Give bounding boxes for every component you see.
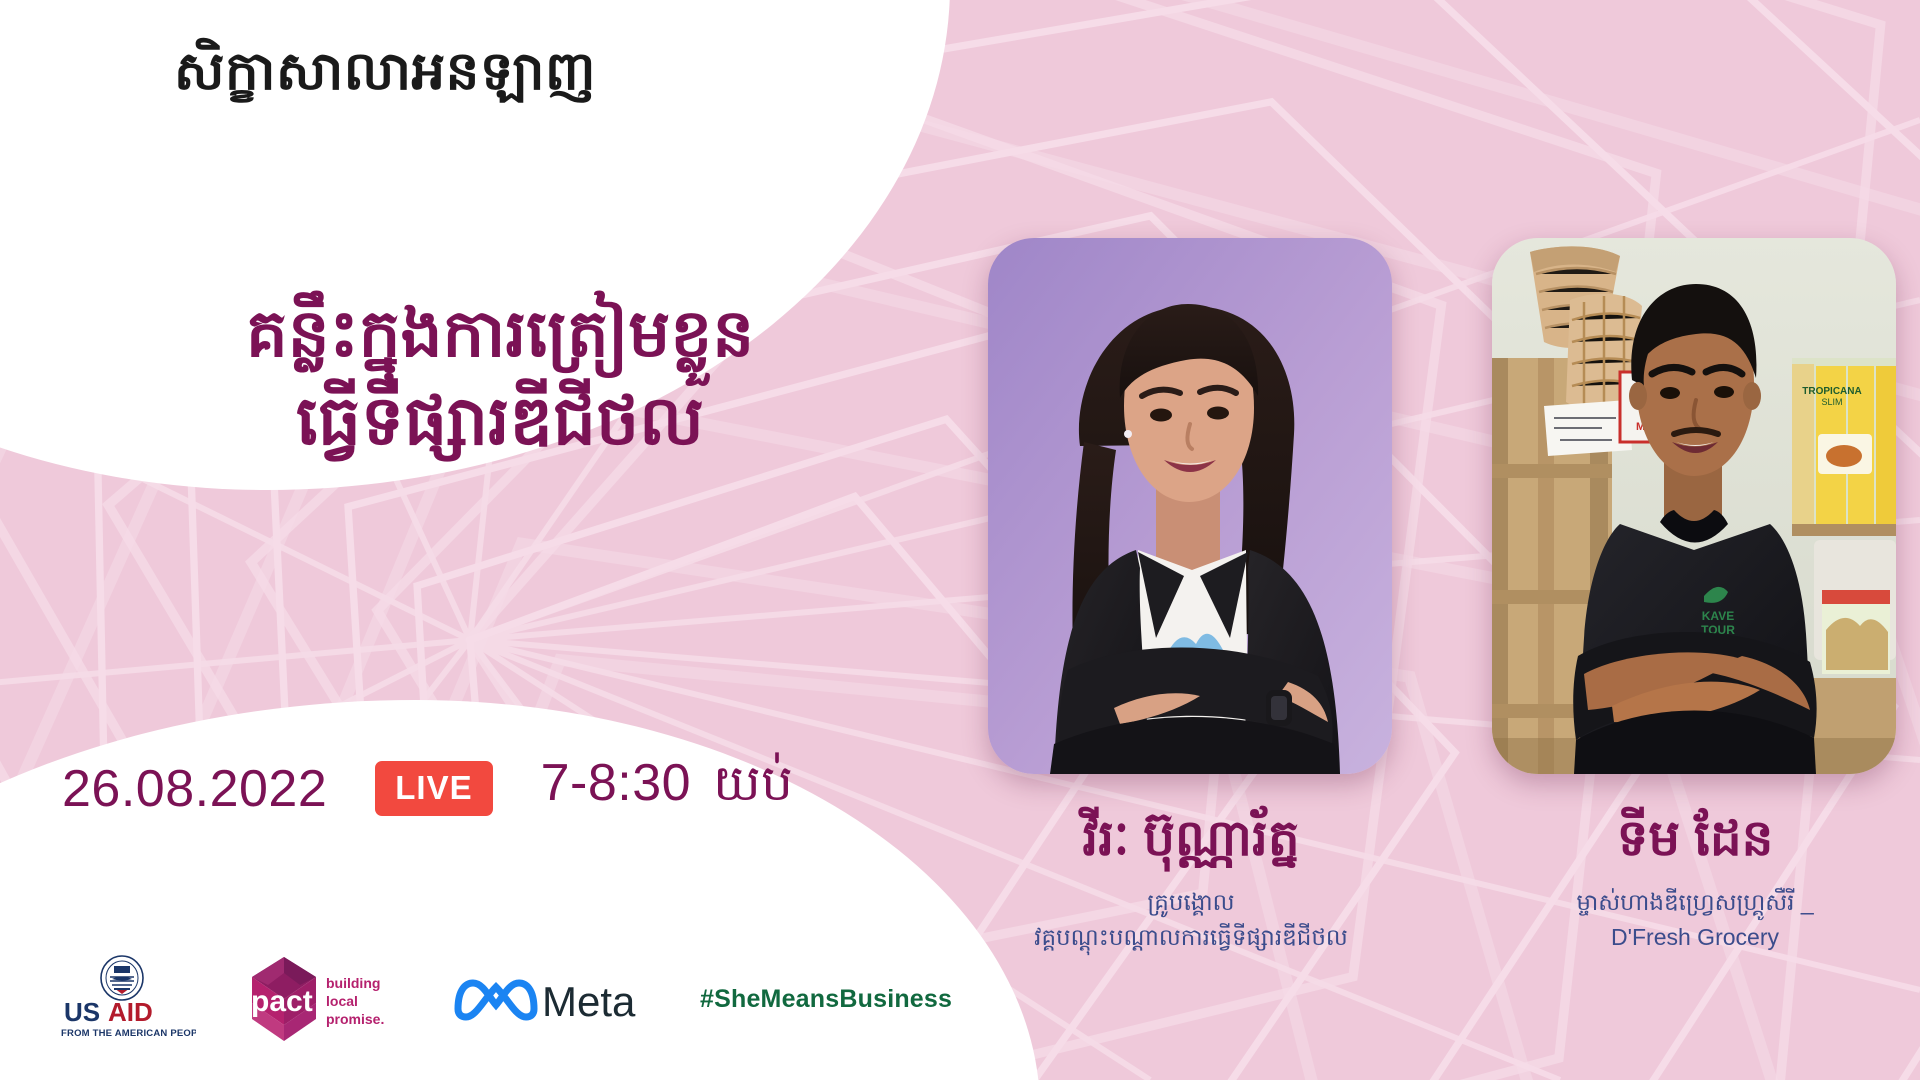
pact-wordmark: pact [251, 985, 313, 1018]
speaker-2-info: ទីម ដែន ម្ចាស់ហាងឌីហ្រ្វេសហ្គ្រូសឺរី _ D… [1452, 808, 1920, 954]
main-title-line-2: ធ្វើទីផ្សារឌីជីថល [60, 377, 940, 467]
usaid-tagline: FROM THE AMERICAN PEOPLE [61, 1028, 196, 1039]
meta-wordmark: Meta [542, 978, 636, 1025]
event-time-suffix: យប់ [713, 752, 793, 825]
speaker-1-role-line-1: គ្រូបង្គោល [948, 885, 1434, 920]
speaker-1-role: គ្រូបង្គោល វគ្គបណ្ដុះបណ្ដាលការធ្វើទីផ្សា… [948, 885, 1434, 954]
pact-tagline-1: building [326, 975, 380, 991]
event-time-range: 7-8:30 [541, 753, 691, 813]
speaker-2-name: ទីម ដែន [1452, 808, 1920, 869]
pact-tagline-2: local [326, 993, 358, 1009]
svg-text:KAVE: KAVE [1702, 609, 1734, 623]
svg-text:SLIM: SLIM [1821, 397, 1842, 407]
live-badge: LIVE [375, 761, 492, 816]
usaid-logo: US AID FROM THE AMERICAN PEOPLE [48, 955, 196, 1043]
meta-logo: Meta [450, 971, 642, 1027]
speaker-2-photo: MISOTA TROPICANA SLIM [1492, 238, 1896, 774]
event-date: 26.08.2022 [62, 759, 327, 819]
usaid-wordmark-aid: AID [108, 997, 153, 1027]
usaid-wordmark-us: US [64, 997, 100, 1027]
usaid-seal-icon [101, 956, 143, 1000]
speaker-1-info: វីរៈ ប៊ុណ្ណារ័ត្ន គ្រូបង្គោល វគ្គបណ្ដុះប… [948, 808, 1434, 954]
event-time: 7-8:30 យប់ [541, 752, 794, 825]
main-title: គន្លឹះក្នុងការត្រៀមខ្លួន ធ្វើទីផ្សារឌីជី… [60, 290, 940, 467]
poster-canvas: សិក្ខាសាលាអនឡាញ គន្លឹះក្នុងការត្រៀមខ្លួន… [0, 0, 1920, 1080]
svg-text:TROPICANA: TROPICANA [1802, 386, 1861, 397]
speaker-1-photo: gcc [988, 238, 1392, 774]
speaker-2-role-line-2: D'Fresh Grocery [1452, 920, 1920, 955]
speaker-2-role: ម្ចាស់ហាងឌីហ្រ្វេសហ្គ្រូសឺរី _ D'Fresh G… [1452, 885, 1920, 954]
pact-logo: pact building local promise. [238, 955, 408, 1043]
speaker-2-role-line-1: ម្ចាស់ហាងឌីហ្រ្វេសហ្គ្រូសឺរី _ [1452, 885, 1920, 920]
page-title: សិក្ខាសាលាអនឡាញ [0, 42, 770, 103]
meta-infinity-icon [458, 983, 534, 1017]
event-datetime-row: 26.08.2022 LIVE 7-8:30 យប់ [62, 752, 793, 825]
hashtag-label: #SheMeansBusiness [700, 985, 952, 1014]
pact-tagline-3: promise. [326, 1011, 384, 1027]
speaker-1-name: វីរៈ ប៊ុណ្ណារ័ត្ន [948, 808, 1434, 869]
main-title-line-1: គន្លឹះក្នុងការត្រៀមខ្លួន [60, 290, 940, 377]
speaker-1-role-line-2: វគ្គបណ្ដុះបណ្ដាលការធ្វើទីផ្សារឌីជីថល [948, 920, 1434, 955]
footer-logo-strip: US AID FROM THE AMERICAN PEOPLE pact bui… [48, 954, 952, 1044]
